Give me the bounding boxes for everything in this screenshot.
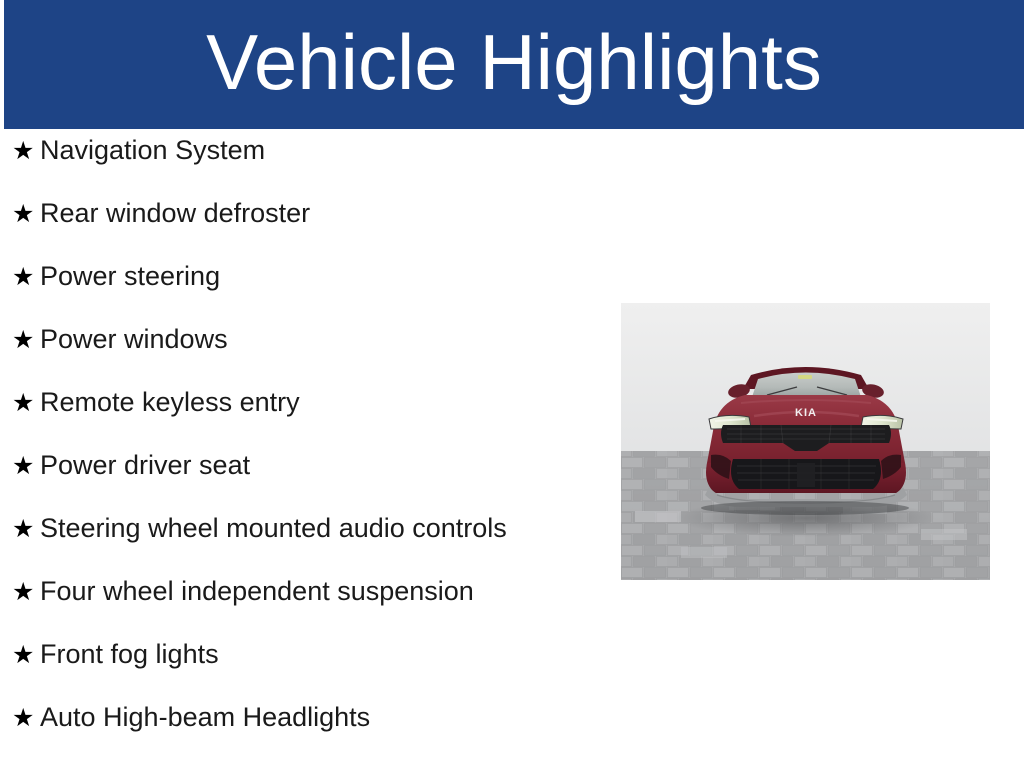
feature-label: Navigation System [40, 137, 265, 164]
star-icon: ★ [0, 705, 40, 730]
list-item: ★ Rear window defroster [0, 200, 610, 263]
star-icon: ★ [0, 579, 40, 604]
list-item: ★ Front fog lights [0, 641, 610, 704]
star-icon: ★ [0, 201, 40, 226]
star-icon: ★ [0, 390, 40, 415]
feature-label: Remote keyless entry [40, 389, 300, 416]
vehicle-photo: KIA [621, 303, 990, 580]
list-item: ★ Navigation System [0, 137, 610, 200]
list-item: ★ Power driver seat [0, 452, 610, 515]
star-icon: ★ [0, 138, 40, 163]
list-item: ★ Remote keyless entry [0, 389, 610, 452]
star-icon: ★ [0, 642, 40, 667]
header-banner: Vehicle Highlights [4, 0, 1024, 129]
kia-badge: KIA [795, 407, 817, 419]
feature-label: Power steering [40, 263, 220, 290]
vehicle-photo-illustration: KIA [621, 303, 990, 580]
list-item: ★ Four wheel independent suspension [0, 578, 610, 641]
feature-label: Rear window defroster [40, 200, 310, 227]
feature-label: Auto High-beam Headlights [40, 704, 370, 731]
feature-label: Four wheel independent suspension [40, 578, 474, 605]
list-item: ★ Power steering [0, 263, 610, 326]
vehicle-features-list: ★ Navigation System ★ Rear window defros… [0, 137, 610, 767]
page-title: Vehicle Highlights [206, 23, 822, 101]
star-icon: ★ [0, 264, 40, 289]
list-item: ★ Steering wheel mounted audio controls [0, 515, 610, 578]
star-icon: ★ [0, 453, 40, 478]
list-item: ★ Power windows [0, 326, 610, 389]
feature-label: Front fog lights [40, 641, 219, 668]
feature-label: Steering wheel mounted audio controls [40, 515, 507, 542]
star-icon: ★ [0, 516, 40, 541]
list-item: ★ Auto High-beam Headlights [0, 704, 610, 767]
feature-label: Power driver seat [40, 452, 250, 479]
slide-canvas: Vehicle Highlights ★ Navigation System ★… [0, 0, 1024, 768]
feature-label: Power windows [40, 326, 228, 353]
star-icon: ★ [0, 327, 40, 352]
